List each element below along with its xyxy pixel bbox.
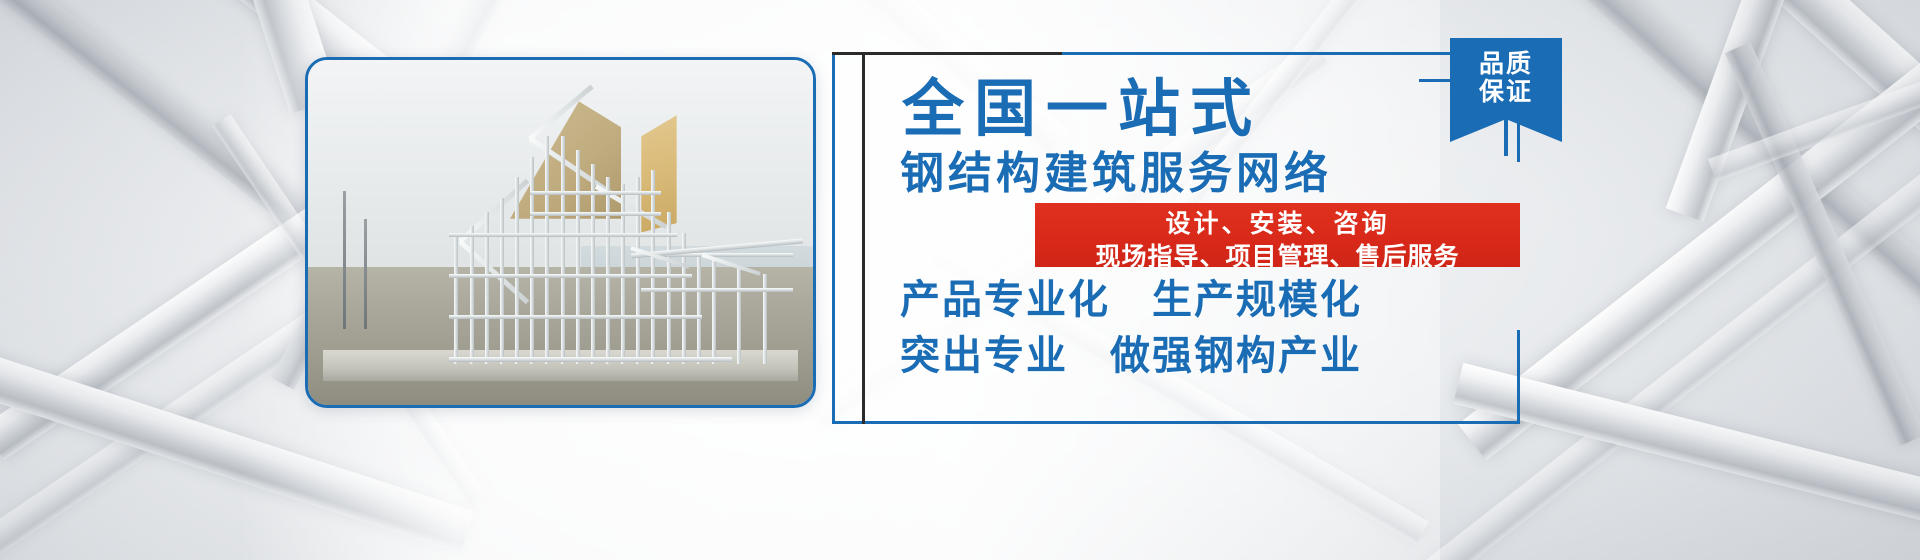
frame-right-edge-bottom [1517, 330, 1520, 424]
badge-tail [1504, 118, 1508, 156]
promo-banner: 全国一站式 钢结构建筑服务网络 设计、安装、咨询 现场指导、项目管理、售后服务 … [0, 0, 1920, 560]
headline-secondary: 钢结构建筑服务网络 [900, 152, 1332, 196]
slogan-line-1: 产品专业化 生产规模化 [900, 280, 1362, 320]
frame-inner-left-rule [862, 52, 865, 424]
steel-frame-house-photo [308, 60, 813, 405]
badge-line-2: 保证 [1450, 78, 1562, 106]
services-line-1: 设计、安装、咨询 [1035, 211, 1520, 236]
slogan-line-2: 突出专业 做强钢构产业 [900, 336, 1362, 376]
services-line-2: 现场指导、项目管理、售后服务 [1035, 244, 1520, 269]
quality-badge-label: 品质 保证 [1450, 50, 1562, 106]
badge-line-1: 品质 [1450, 50, 1562, 78]
badge-connector-line [1419, 79, 1453, 82]
headline-primary: 全国一站式 [902, 78, 1262, 140]
project-photo-card [305, 57, 816, 408]
frame-top-dark-accent [832, 52, 1062, 55]
